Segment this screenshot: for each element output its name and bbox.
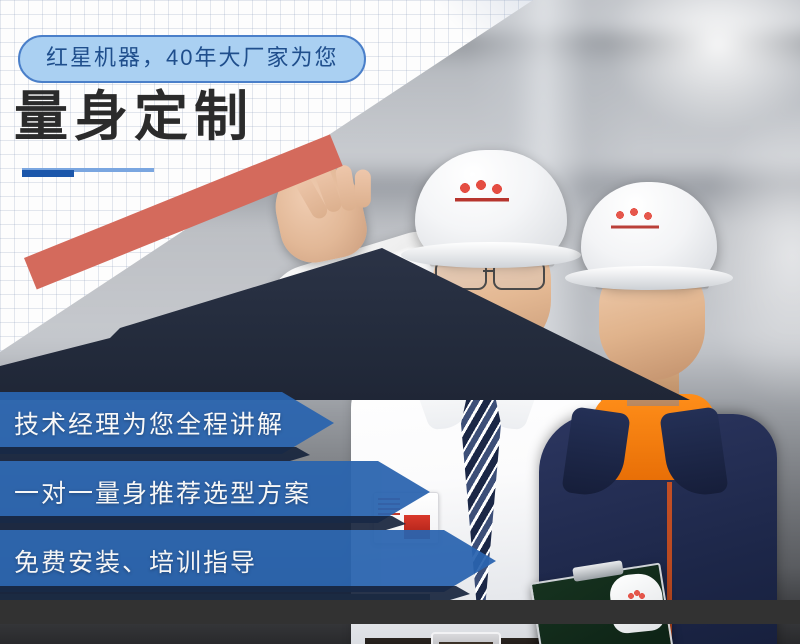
feature-banner-2[interactable]: 一对一量身推荐选型方案: [0, 461, 430, 523]
feature-banner-2-label: 一对一量身推荐选型方案: [0, 474, 311, 510]
feature-banner-2-shadow: [0, 516, 406, 530]
headline-rule-thick: [22, 170, 74, 177]
promo-banner: 红星机器，40年大厂家为您 量身定制 技术经理为您全程讲解 一对一量身推荐选型方…: [0, 0, 800, 644]
finger: [355, 170, 371, 208]
feature-banner-1-label: 技术经理为您全程讲解: [0, 405, 284, 441]
feature-banner-3[interactable]: 免费安装、培训指导: [0, 530, 496, 592]
hardhat-logo-icon: [611, 208, 659, 236]
feature-banner-3-label: 免费安装、培训指导: [0, 543, 257, 579]
feature-banner-group: 技术经理为您全程讲解 一对一量身推荐选型方案 免费安装、培训指导: [0, 368, 800, 624]
feature-banner-1-shadow: [0, 447, 310, 461]
footer-dark-bar: [0, 600, 800, 624]
hardhat-logo-icon: [455, 180, 509, 210]
headline-title: 量身定制: [14, 88, 254, 147]
feature-banner-1[interactable]: 技术经理为您全程讲解: [0, 392, 334, 454]
engineer-belt-buckle: [431, 632, 501, 644]
tagline-pill: 红星机器，40年大厂家为您: [18, 35, 366, 83]
